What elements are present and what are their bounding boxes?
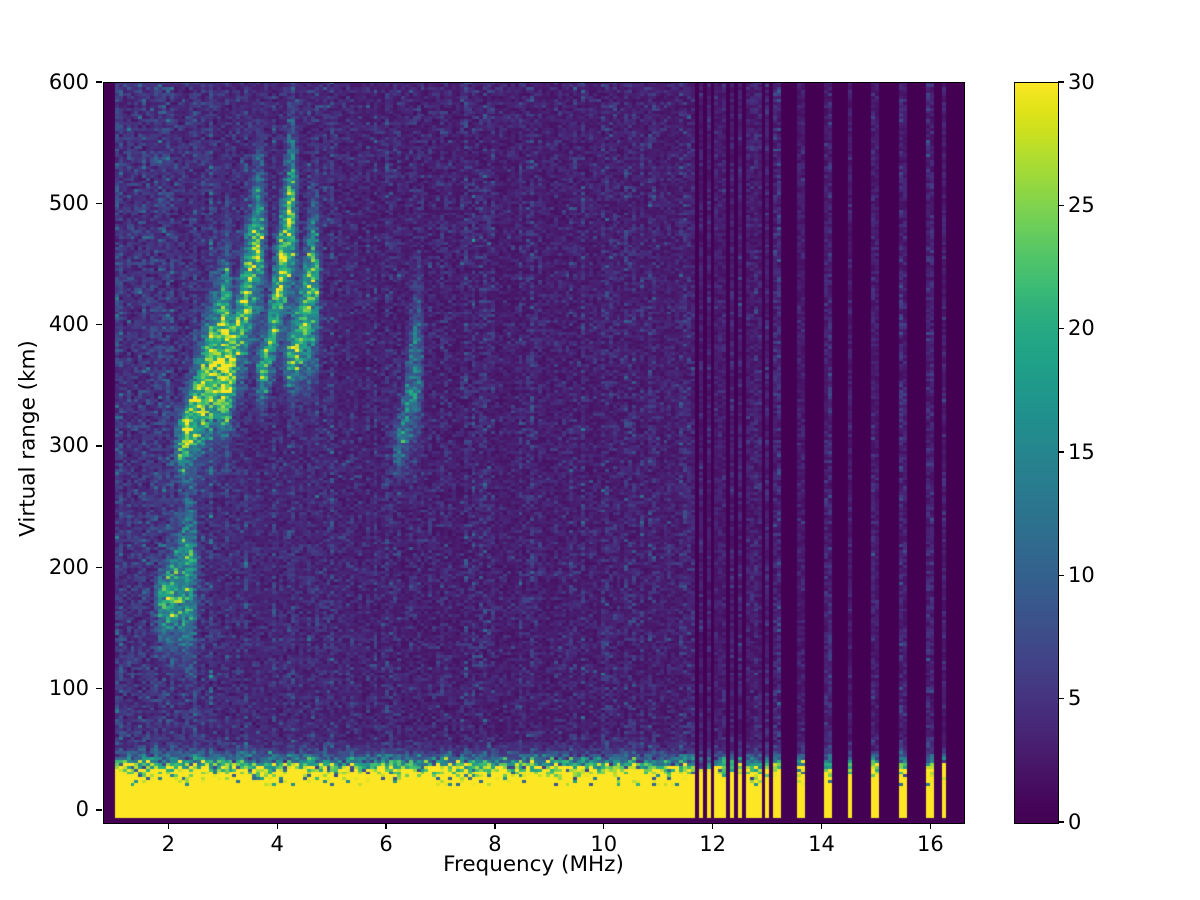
y-tick-mark <box>96 81 102 82</box>
y-tick-label: 0 <box>0 799 89 820</box>
y-tick-mark <box>96 324 102 325</box>
y-axis-label: Virtual range (km) <box>16 319 41 559</box>
colorbar-tick-label: 5 <box>1068 688 1081 709</box>
y-tick-label: 100 <box>0 678 89 699</box>
x-tick-mark <box>168 823 169 829</box>
colorbar-tick-mark <box>1058 698 1064 699</box>
x-axis-label: Frequency (MHz) <box>103 852 964 877</box>
x-tick-mark <box>603 823 604 829</box>
colorbar-tick-label: 20 <box>1068 318 1095 339</box>
y-tick-mark <box>96 809 102 810</box>
colorbar-tick-mark <box>1058 821 1064 822</box>
x-tick-mark <box>385 823 386 829</box>
colorbar-tick-label: 10 <box>1068 565 1095 586</box>
x-tick-mark <box>494 823 495 829</box>
y-tick-label: 200 <box>0 557 89 578</box>
x-tick-mark <box>277 823 278 829</box>
colorbar-gradient[interactable] <box>1014 82 1059 824</box>
y-tick-mark <box>96 688 102 689</box>
colorbar-tick-label: 0 <box>1068 812 1081 833</box>
y-tick-label: 300 <box>0 435 89 456</box>
colorbar-tick-mark <box>1058 328 1064 329</box>
colorbar-tick-mark <box>1058 81 1064 82</box>
ionogram-heatmap[interactable] <box>104 83 964 823</box>
colorbar-tick-mark <box>1058 451 1064 452</box>
colorbar-tick-mark <box>1058 205 1064 206</box>
x-tick-mark <box>930 823 931 829</box>
colorbar-tick-label: 15 <box>1068 442 1095 463</box>
y-tick-mark <box>96 567 102 568</box>
colorbar-container[interactable] <box>1014 82 1057 822</box>
y-tick-label: 500 <box>0 193 89 214</box>
y-tick-label: 400 <box>0 314 89 335</box>
colorbar-tick-label: 25 <box>1068 195 1095 216</box>
y-tick-mark <box>96 445 102 446</box>
y-tick-label: 600 <box>0 72 89 93</box>
plot-axes[interactable] <box>103 82 965 824</box>
ionogram-figure: IRF Kiruna Ionosonde KI167 2025-10-11 17… <box>0 0 1200 900</box>
x-tick-mark <box>821 823 822 829</box>
y-tick-mark <box>96 203 102 204</box>
colorbar-tick-label: 30 <box>1068 72 1095 93</box>
colorbar-tick-mark <box>1058 575 1064 576</box>
x-tick-mark <box>712 823 713 829</box>
